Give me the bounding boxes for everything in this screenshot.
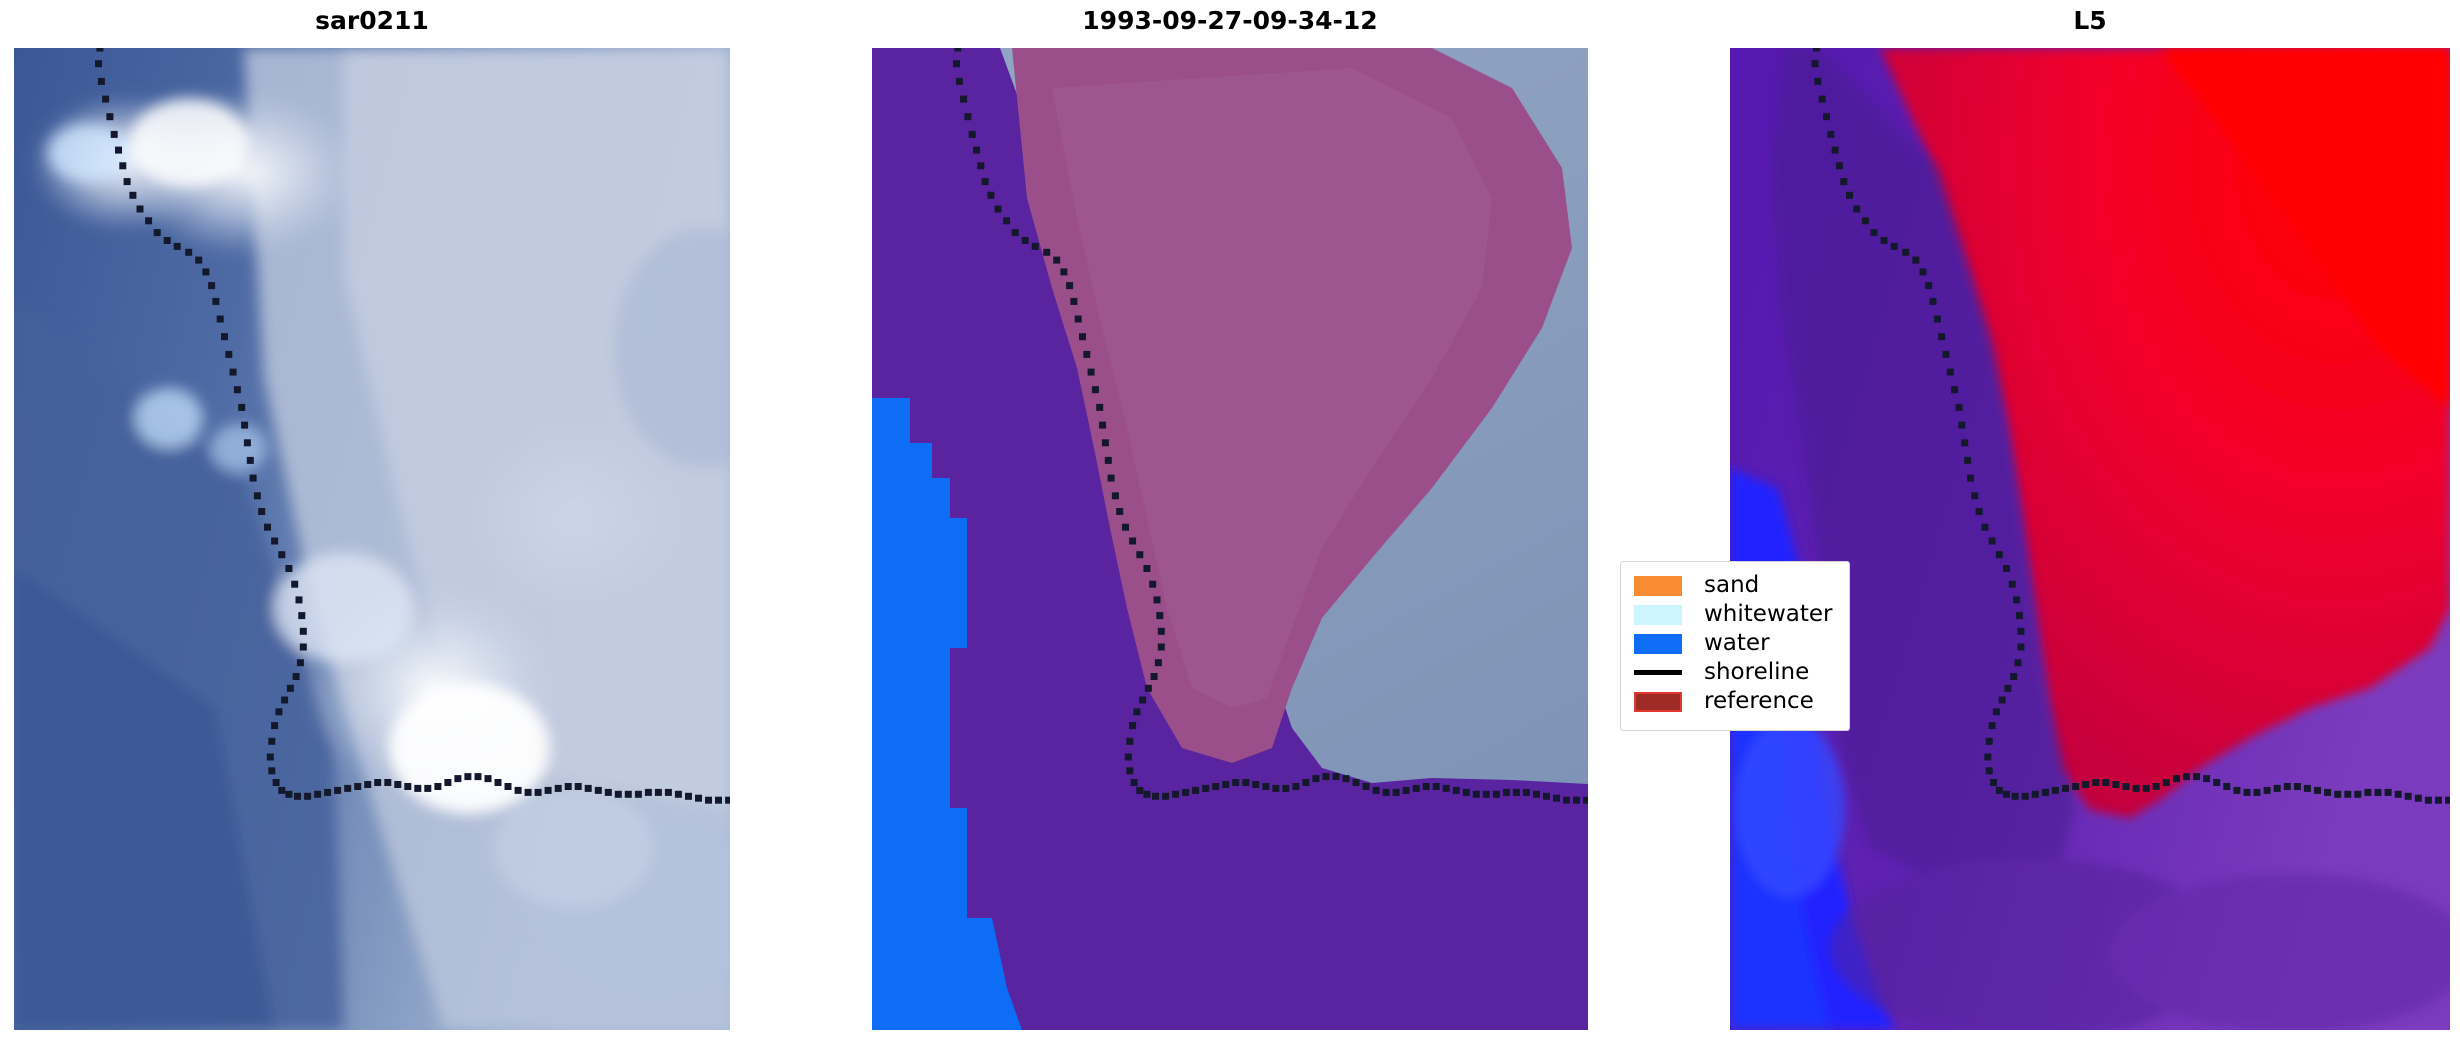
classified-image xyxy=(872,48,1588,1030)
legend-item[interactable]: shoreline xyxy=(1621,658,1849,687)
legend-swatch-sand xyxy=(1634,576,1682,596)
legend-swatch-shoreline xyxy=(1634,670,1682,675)
panel-classified[interactable] xyxy=(872,48,1588,1030)
legend-label-whitewater: whitewater xyxy=(1704,603,1832,626)
legend-item[interactable]: water xyxy=(1621,629,1849,658)
legend-label-shoreline: shoreline xyxy=(1704,661,1809,684)
legend-box[interactable]: sand whitewater water shoreline referenc… xyxy=(1620,561,1850,731)
legend-item[interactable]: sand xyxy=(1621,571,1849,600)
legend-label-water: water xyxy=(1704,632,1770,655)
panel-title-classified: 1993-09-27-09-34-12 xyxy=(872,8,1588,33)
legend-swatch-reference xyxy=(1634,692,1682,712)
figure-canvas: sar0211 xyxy=(0,0,2460,1043)
legend-label-reference: reference xyxy=(1704,690,1814,713)
legend-swatch-whitewater xyxy=(1634,605,1682,625)
legend-item[interactable]: reference xyxy=(1621,687,1849,716)
panel-sar[interactable] xyxy=(14,48,730,1030)
legend-label-sand: sand xyxy=(1704,574,1759,597)
legend-item[interactable]: whitewater xyxy=(1621,600,1849,629)
legend-swatch-water xyxy=(1634,634,1682,654)
panel-title-l5: L5 xyxy=(1730,8,2450,33)
sar-image xyxy=(14,48,730,1030)
l5-image xyxy=(1730,48,2450,1030)
panel-l5[interactable] xyxy=(1730,48,2450,1030)
panel-title-sar: sar0211 xyxy=(14,8,730,33)
